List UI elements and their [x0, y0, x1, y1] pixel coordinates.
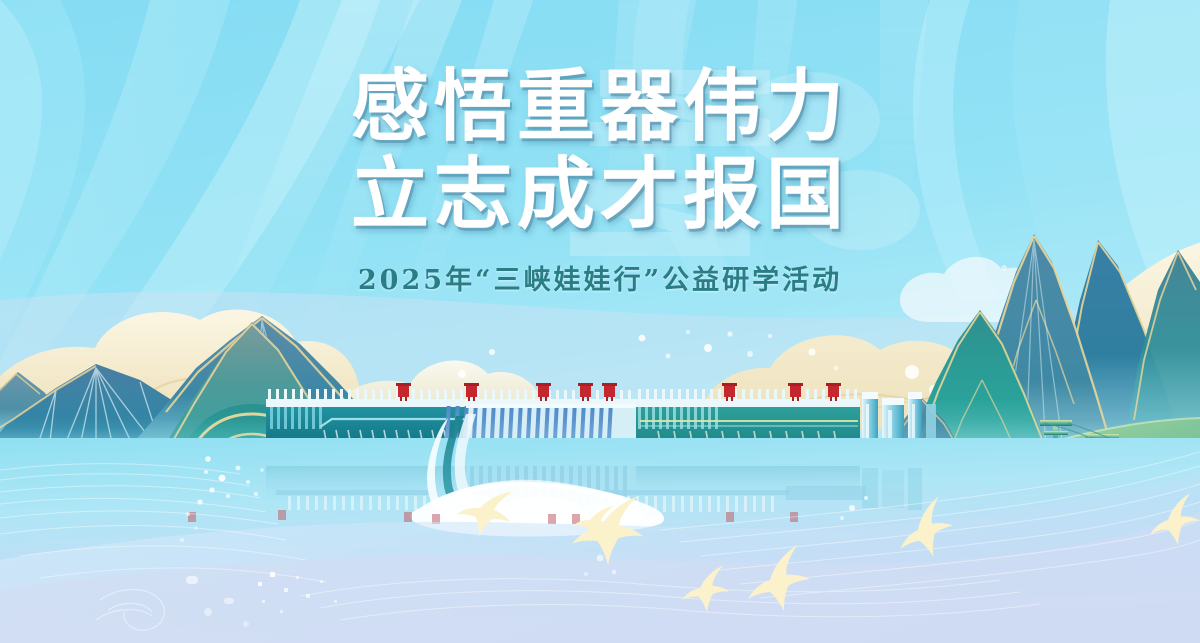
swallow	[887, 496, 961, 568]
swallow	[737, 545, 817, 621]
birds-layer	[0, 0, 1200, 643]
swallow-group	[454, 484, 1200, 620]
swallow	[454, 484, 515, 541]
swallow	[1142, 493, 1200, 552]
swallow	[568, 496, 646, 568]
swallow	[678, 565, 732, 616]
promotional-banner: 感悟重器伟力 立志成才报国 2025年“三峡娃娃行”公益研学活动	[0, 0, 1200, 643]
